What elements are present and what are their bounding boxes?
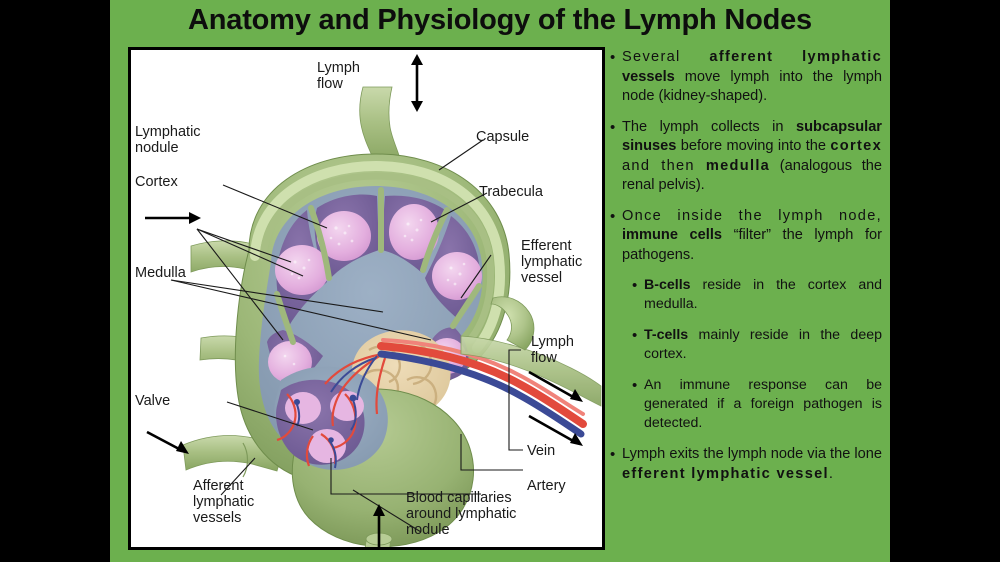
bullet-text: Several afferent lymphatic vessels move … xyxy=(622,48,882,107)
bullet-item: •Several afferent lymphatic vessels move… xyxy=(610,48,882,107)
figure-label-blood-capillaries: Blood capillaries around lymphatic nodul… xyxy=(406,490,516,538)
bullet-item: •T-cells mainly reside in the deep corte… xyxy=(610,326,882,364)
bullet-item: •Lymph exits the lymph node via the lone… xyxy=(610,445,882,484)
bullet-marker-icon: • xyxy=(632,376,644,433)
bullet-marker-icon: • xyxy=(632,326,644,364)
bullet-item: •B-cells reside in the cortex and medull… xyxy=(610,276,882,314)
bullet-item: •The lymph collects in subcapsular sinus… xyxy=(610,118,882,196)
bullet-marker-icon: • xyxy=(610,445,622,484)
figure-label-afferent-vessels: Afferent lymphatic vessels xyxy=(193,478,254,526)
bullet-text: The lymph collects in subcapsular sinuse… xyxy=(622,118,882,196)
bullet-marker-icon: • xyxy=(610,207,622,266)
bullet-marker-icon: • xyxy=(610,48,622,107)
bullet-marker-icon: • xyxy=(632,276,644,314)
figure-label-trabecula: Trabecula xyxy=(479,184,543,200)
bullet-text: An immune response can be generated if a… xyxy=(644,376,882,433)
figure-label-artery: Artery xyxy=(527,478,566,494)
bullet-text: Lymph exits the lymph node via the lone … xyxy=(622,445,882,484)
figure-label-valve: Valve xyxy=(135,393,170,409)
figure-label-cortex: Cortex xyxy=(135,174,178,190)
figure-label-capsule: Capsule xyxy=(476,129,529,145)
bullet-item: •An immune response can be generated if … xyxy=(610,376,882,433)
figure-label-vein: Vein xyxy=(527,443,555,459)
bullet-marker-icon: • xyxy=(610,118,622,196)
page-title: Anatomy and Physiology of the Lymph Node… xyxy=(110,4,890,44)
figure-label-efferent-vessel: Efferent lymphatic vessel xyxy=(521,238,582,286)
figure-label-medulla: Medulla xyxy=(135,265,186,281)
bullet-list: •Several afferent lymphatic vessels move… xyxy=(610,48,882,553)
bullet-text: T-cells mainly reside in the deep cortex… xyxy=(644,326,882,364)
afferent-vessel-top xyxy=(360,87,401,165)
anatomy-figure-canvas: Lymph flow Lymphatic nodule Cortex Medul… xyxy=(131,50,602,547)
lymph-node-illustration xyxy=(131,50,602,547)
figure-label-lymphatic-nodule: Lymphatic nodule xyxy=(135,124,201,156)
slide-canvas: Anatomy and Physiology of the Lymph Node… xyxy=(110,0,890,562)
bullet-text: Once inside the lymph node, immune cells… xyxy=(622,207,882,266)
figure-label-lymph-flow-right: Lymph flow xyxy=(531,334,574,366)
bullet-item: •Once inside the lymph node, immune cell… xyxy=(610,207,882,266)
bullet-text: B-cells reside in the cortex and medulla… xyxy=(644,276,882,314)
anatomy-figure-panel: Lymph flow Lymphatic nodule Cortex Medul… xyxy=(128,47,605,550)
figure-label-lymph-flow-top: Lymph flow xyxy=(317,60,360,92)
